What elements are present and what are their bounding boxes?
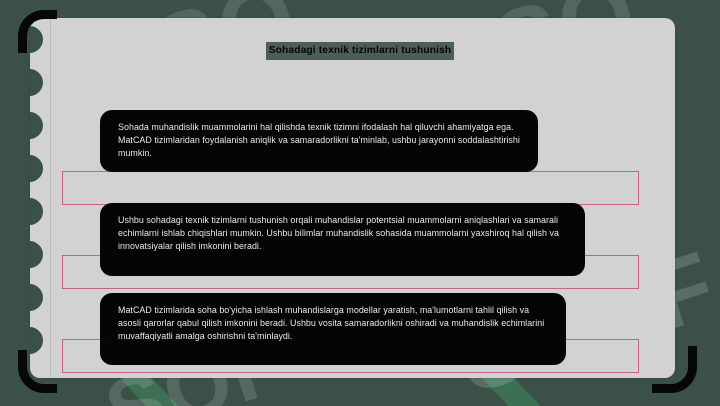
page-title: Sohadagi texnik tizimlarni tushunish: [266, 42, 455, 60]
page-title-container: Sohadagi texnik tizimlarni tushunish: [0, 40, 720, 60]
content-panel-2: Ushbu sohadagi texnik tizimlarni tushuni…: [100, 203, 585, 276]
content-panel-3: MatCAD tizimlarida soha bo'yicha ishlash…: [100, 293, 566, 365]
content-panel-3-text: MatCAD tizimlarida soha bo'yicha ishlash…: [118, 304, 550, 344]
margin-rule-line: [50, 18, 51, 378]
content-panel-2-text: Ushbu sohadagi texnik tizimlarni tushuni…: [118, 214, 569, 254]
slide-canvas: SO SO SOFF SOF Sohada muhandislik muammo…: [0, 0, 720, 406]
binding-notch: [30, 112, 43, 139]
binding-notch: [30, 69, 43, 96]
content-panel-1-text: Sohada muhandislik muammolarini hal qili…: [118, 121, 522, 161]
content-panel-1: Sohada muhandislik muammolarini hal qili…: [100, 110, 538, 172]
corner-bracket-top-left: [18, 10, 57, 53]
binding-notch: [30, 155, 43, 182]
binding-notch: [30, 284, 43, 311]
binding-notch: [30, 241, 43, 268]
binding-notch: [30, 198, 43, 225]
corner-bracket-bottom-right: [652, 346, 697, 393]
placeholder-frame: [62, 171, 639, 205]
corner-bracket-bottom-left: [18, 350, 57, 393]
